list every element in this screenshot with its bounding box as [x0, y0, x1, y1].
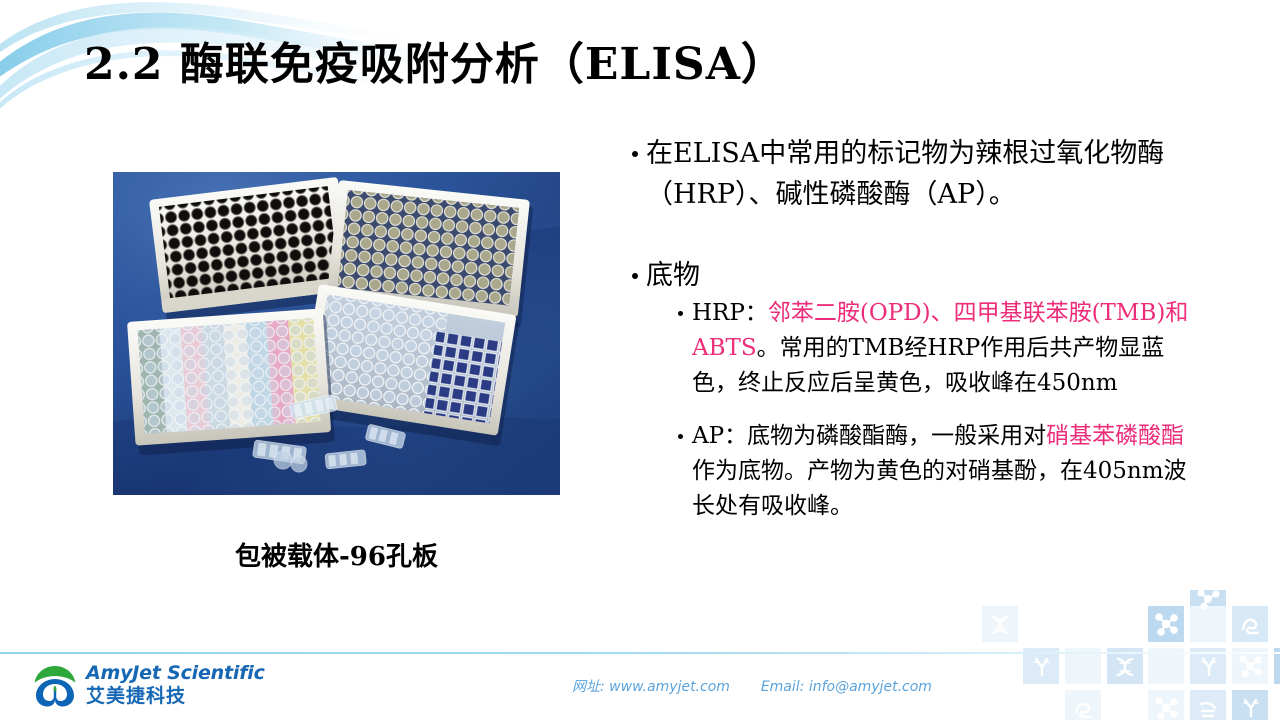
sub-bullet-hrp: HRP：邻苯二胺(OPD)、四甲基联苯胺(TMB)和ABTS。常用的TMB经HR… — [678, 296, 1196, 401]
sub-bullet-ap-seg-1: 硝基苯磷酸酯 — [1046, 423, 1184, 449]
bullet-markers-intro: 在ELISA中常用的标记物为辣根过氧化物酶（HRP）、碱性磷酸酶（AP）。 — [630, 133, 1196, 215]
protein-icon — [1201, 703, 1215, 716]
website-url[interactable]: www.amyjet.com — [609, 679, 730, 695]
sub-bullet-ap-seg-2: 作为底物。产物为黄色的对硝基酚，在405nm波长处有吸收峰。 — [692, 458, 1187, 519]
bullet-substrate-heading-text: 底物 — [646, 260, 700, 291]
antibody-icon — [1035, 659, 1049, 675]
science-tiles-decoration — [950, 590, 1280, 720]
dna-icon — [1118, 659, 1132, 675]
brand-logo-text: AmyJet Scientific 艾美捷科技 — [86, 662, 265, 708]
antibody-icon — [1244, 700, 1258, 716]
slide-canvas: 2.2 酶联免疫吸附分析（ELISA） — [0, 0, 1280, 720]
content-body: 在ELISA中常用的标记物为辣根过氧化物酶（HRP）、碱性磷酸酶（AP）。 底物… — [630, 133, 1196, 524]
sub-bullet-ap: AP：底物为磷酸酯酶，一般采用对硝基苯磷酸酯作为底物。产物为黄色的对硝基酚，在4… — [678, 419, 1196, 524]
antibody-icon — [1202, 659, 1216, 675]
bullet-markers-intro-text: 在ELISA中常用的标记物为辣根过氧化物酶（HRP）、碱性磷酸酶（AP）。 — [646, 138, 1164, 210]
spacer — [630, 401, 1196, 419]
sub-bullet-hrp-seg-2: 。常用的TMB经HRP作用后共产物显蓝色，终止反应后呈黄色，吸收峰在450nm — [692, 335, 1164, 396]
footer-divider — [0, 652, 1280, 654]
molecule-icon — [1157, 699, 1177, 719]
spacer — [630, 215, 1196, 255]
protein-icon — [1243, 620, 1258, 633]
amyjet-logo-icon — [32, 664, 78, 708]
molecule-icon — [1241, 657, 1261, 677]
email-label: Email: — [761, 679, 805, 695]
brand-logo: AmyJet Scientific 艾美捷科技 — [32, 662, 282, 710]
dna-icon — [993, 617, 1007, 633]
footer-contact: 网址: www.amyjet.com Email: info@amyjet.co… — [572, 676, 932, 696]
figure-caption: 包被载体-96孔板 — [113, 536, 560, 573]
brand-name-cn: 艾美捷科技 — [86, 684, 265, 708]
sub-bullet-ap-seg-0: AP：底物为磷酸酯酶，一般采用对 — [692, 423, 1046, 449]
sub-bullet-hrp-seg-0: HRP： — [692, 300, 768, 326]
molecule-icon — [1199, 591, 1219, 609]
bullet-substrate-heading: 底物 — [630, 255, 1196, 296]
microplate-photo — [113, 172, 560, 495]
brand-name-en: AmyJet Scientific — [86, 662, 265, 684]
protein-icon — [1076, 704, 1091, 717]
website-label: 网址: — [572, 679, 605, 695]
email-address[interactable]: info@amyjet.com — [809, 679, 932, 695]
page-title: 2.2 酶联免疫吸附分析（ELISA） — [84, 28, 786, 92]
molecule-icon — [1156, 614, 1176, 634]
microplate-photo-image — [113, 172, 560, 495]
